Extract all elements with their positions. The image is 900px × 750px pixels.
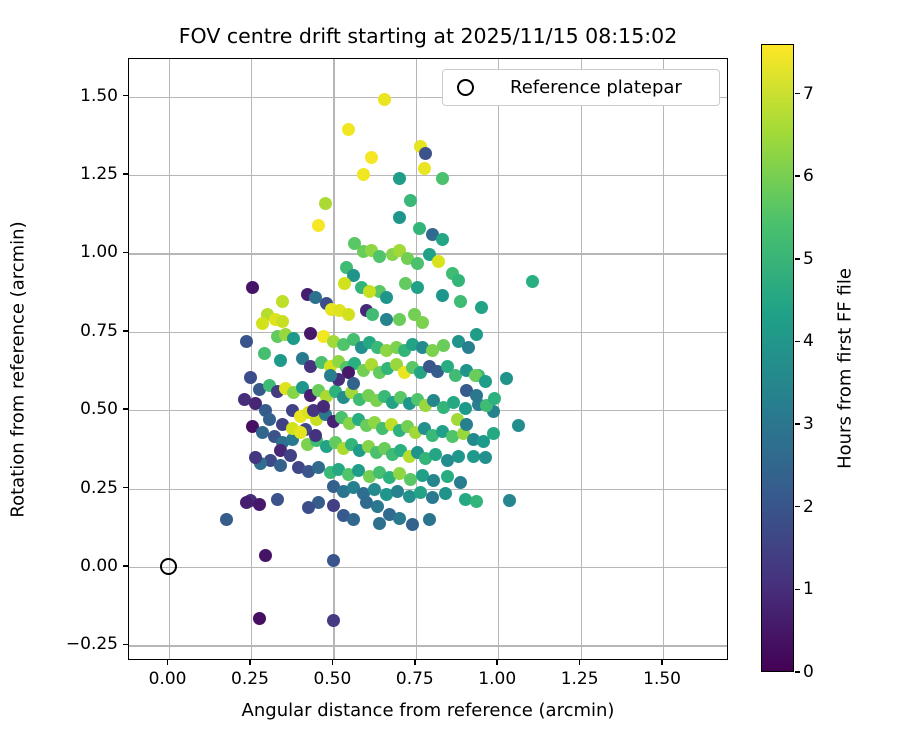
colorbar-tick-mark	[795, 341, 800, 343]
x-tick-mark	[414, 660, 416, 665]
colorbar-tick-mark	[795, 423, 800, 425]
y-tick-label: 1.00	[28, 242, 118, 262]
y-tick-mark	[123, 565, 128, 567]
x-tick-label: 1.00	[478, 669, 516, 689]
x-axis-label: Angular distance from reference (arcmin)	[128, 700, 728, 721]
scatter-plot-figure: FOV centre drift starting at 2025/11/15 …	[0, 0, 900, 750]
y-tick-label: −0.25	[28, 634, 118, 654]
y-tick-label: 1.25	[28, 164, 118, 184]
y-tick-label: 0.00	[28, 556, 118, 576]
x-tick-mark	[661, 660, 663, 665]
colorbar-tick-mark	[795, 93, 800, 95]
y-axis-label: Rotation from reference (arcmin)	[8, 69, 29, 671]
colorbar-tick-label: 4	[803, 331, 814, 351]
y-tick-mark	[123, 408, 128, 410]
colorbar-tick-label: 6	[803, 166, 814, 186]
x-tick-mark	[496, 660, 498, 665]
colorbar-tick-label: 1	[803, 579, 814, 599]
colorbar-tick-mark	[795, 506, 800, 508]
y-tick-label: 0.25	[28, 478, 118, 498]
x-tick-label: 0.00	[149, 669, 187, 689]
x-tick-mark	[249, 660, 251, 665]
colorbar-tick-mark	[795, 258, 800, 260]
reference-point-layer	[129, 59, 727, 659]
y-tick-mark	[123, 330, 128, 332]
reference-platepar-marker	[160, 558, 177, 575]
plot-axes	[128, 58, 728, 660]
x-tick-label: 1.25	[561, 669, 599, 689]
x-tick-mark	[579, 660, 581, 665]
y-tick-mark	[123, 644, 128, 646]
x-tick-label: 0.75	[396, 669, 434, 689]
colorbar-tick-mark	[795, 671, 800, 673]
page-title: FOV centre drift starting at 2025/11/15 …	[128, 24, 728, 48]
colorbar-gradient	[762, 45, 793, 671]
legend-circle-icon	[457, 79, 474, 96]
colorbar-tick-label: 2	[803, 497, 814, 517]
legend: Reference platepar	[442, 69, 720, 106]
x-tick-mark	[332, 660, 334, 665]
colorbar-tick-label: 5	[803, 249, 814, 269]
colorbar-tick-mark	[795, 589, 800, 591]
y-tick-mark	[123, 173, 128, 175]
y-tick-mark	[123, 252, 128, 254]
colorbar-tick-label: 3	[803, 414, 814, 434]
colorbar-tick-mark	[795, 175, 800, 177]
y-tick-label: 1.50	[28, 86, 118, 106]
y-tick-mark	[123, 487, 128, 489]
colorbar-tick-label: 0	[803, 662, 814, 682]
x-tick-mark	[167, 660, 169, 665]
legend-label: Reference platepar	[510, 77, 682, 98]
y-tick-label: 0.50	[28, 399, 118, 419]
colorbar	[761, 44, 794, 672]
x-tick-label: 0.25	[231, 669, 269, 689]
colorbar-tick-label: 7	[803, 84, 814, 104]
x-tick-label: 0.50	[313, 669, 351, 689]
y-tick-label: 0.75	[28, 321, 118, 341]
y-tick-mark	[123, 95, 128, 97]
colorbar-label: Hours from first FF file	[835, 55, 856, 683]
x-tick-label: 1.50	[643, 669, 681, 689]
